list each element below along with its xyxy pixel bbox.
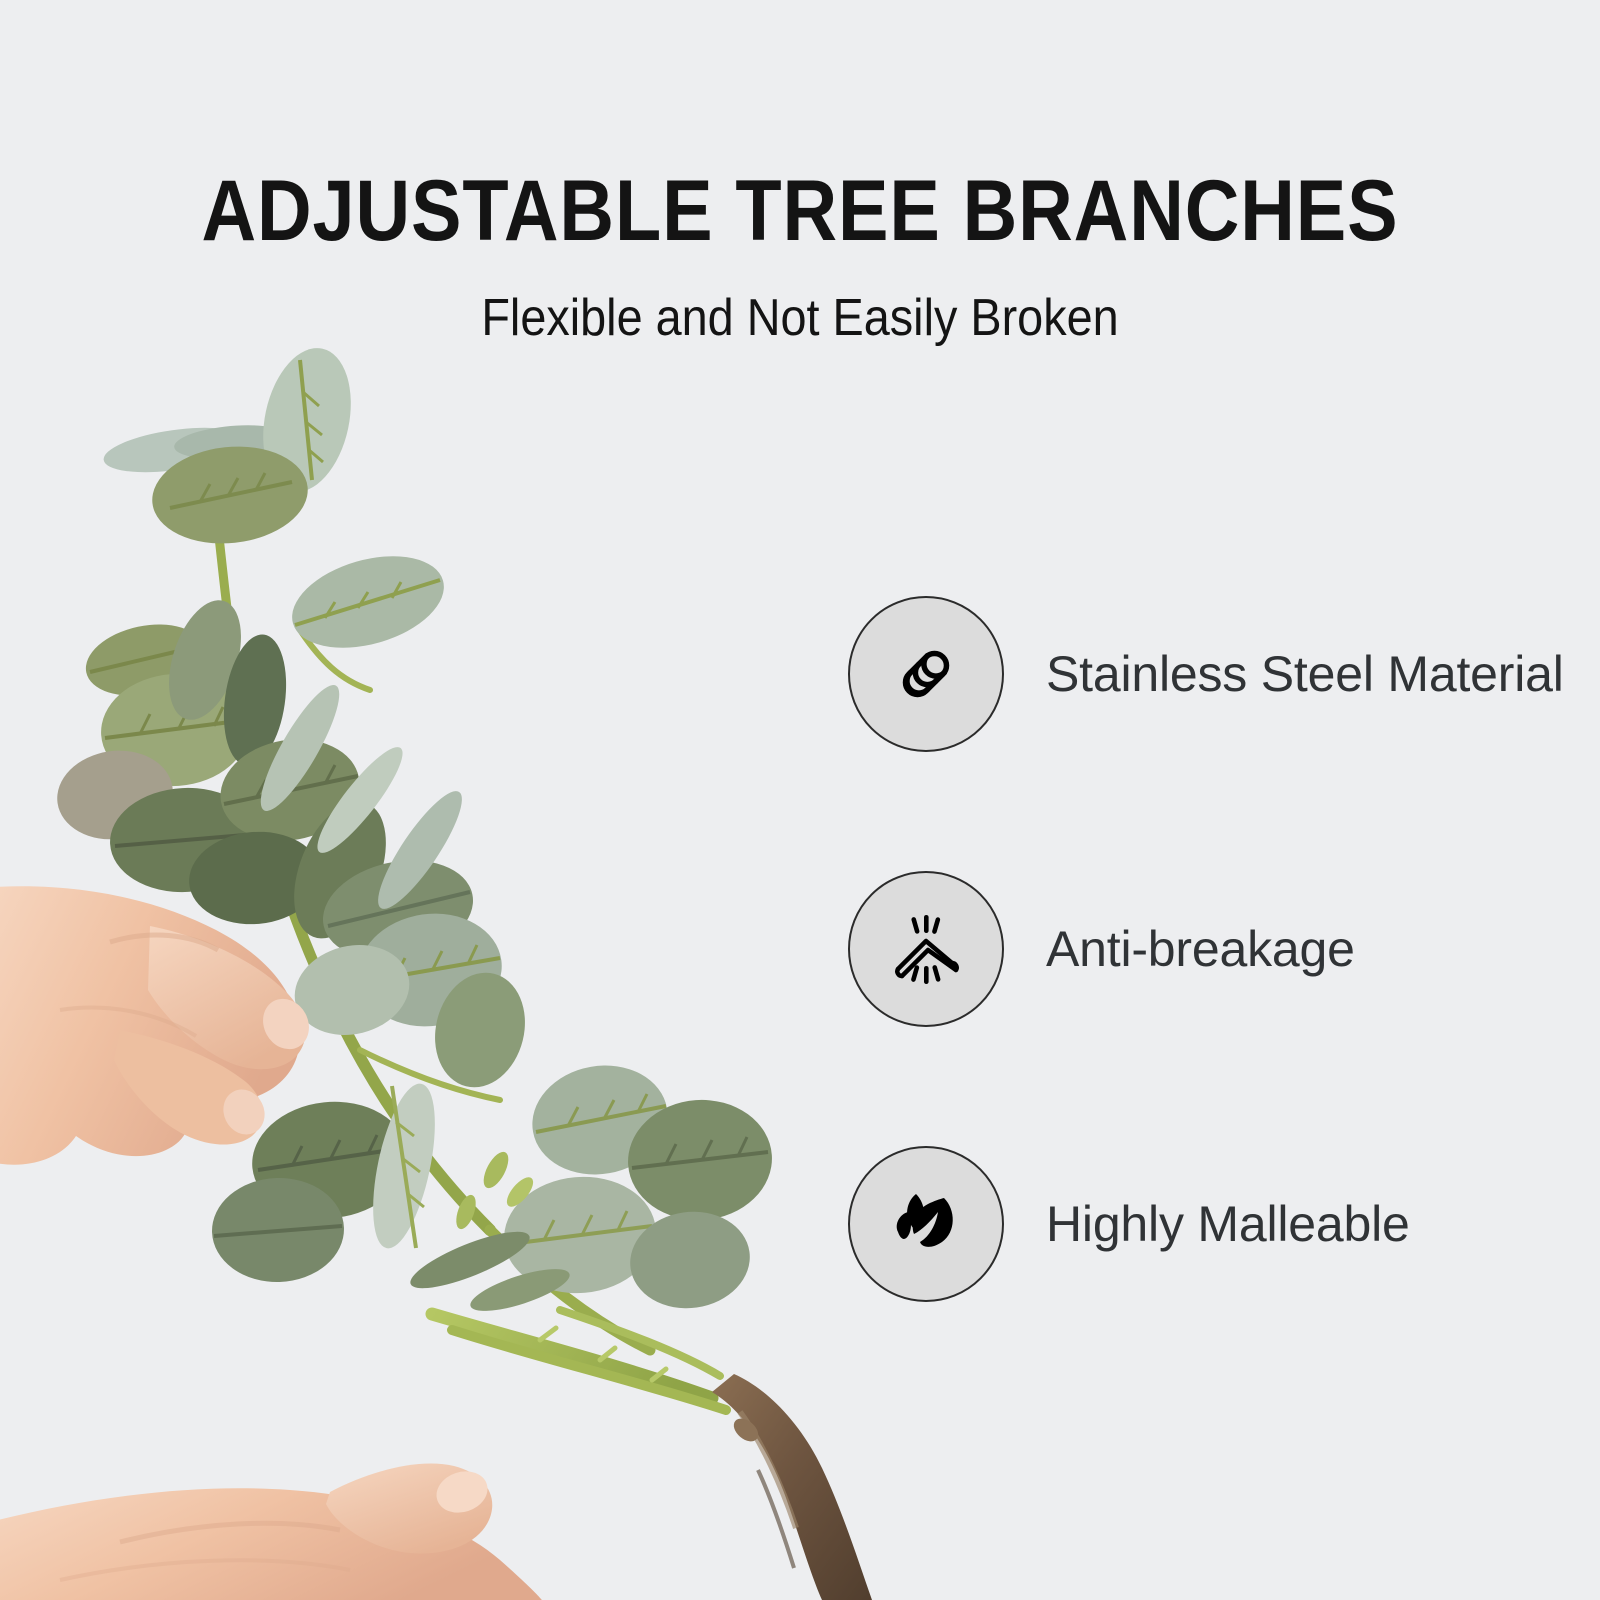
bent-rod-icon bbox=[884, 907, 968, 991]
leaves-icon bbox=[886, 1184, 966, 1264]
feature-item-anti-breakage: Anti-breakage bbox=[848, 871, 1548, 1027]
feature-list: Stainless Steel Material bbox=[848, 596, 1548, 1302]
hand-lower bbox=[0, 1464, 542, 1600]
feature-item-highly-malleable: Highly Malleable bbox=[848, 1146, 1548, 1302]
steel-rod-icon bbox=[886, 634, 966, 714]
eucalyptus-branch-illustration bbox=[0, 330, 900, 1600]
hand-upper bbox=[0, 886, 318, 1164]
feature-icon-circle bbox=[848, 1146, 1004, 1302]
feature-label: Anti-breakage bbox=[1046, 920, 1355, 978]
leaf-cluster-lower bbox=[210, 1055, 776, 1319]
feature-icon-circle bbox=[848, 596, 1004, 752]
feature-label: Highly Malleable bbox=[1046, 1195, 1410, 1253]
exposed-stems bbox=[432, 1310, 726, 1410]
header: ADJUSTABLE TREE BRANCHES Flexible and No… bbox=[0, 0, 1600, 344]
feature-label: Stainless Steel Material bbox=[1046, 645, 1564, 703]
product-photo bbox=[0, 330, 900, 1600]
page-title: ADJUSTABLE TREE BRANCHES bbox=[96, 168, 1504, 254]
feature-icon-circle bbox=[848, 871, 1004, 1027]
woody-branch-tip bbox=[712, 1374, 872, 1600]
leaf-cluster-upper bbox=[101, 340, 455, 664]
feature-item-stainless-steel-material: Stainless Steel Material bbox=[848, 596, 1548, 752]
